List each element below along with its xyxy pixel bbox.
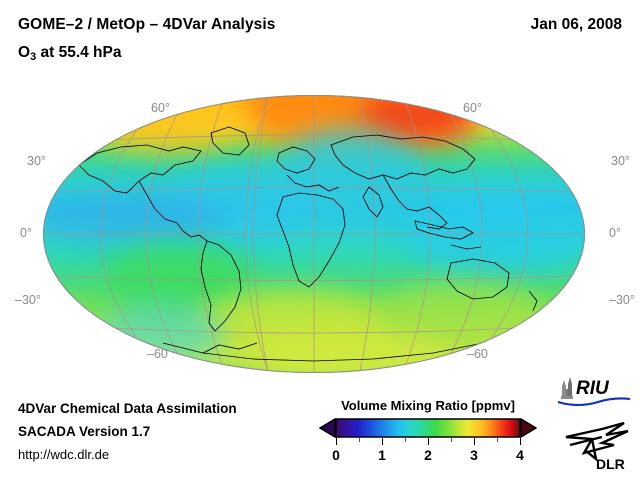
figure-canvas: GOME–2 / MetOp – 4DVar Analysis O3 at 55… xyxy=(0,0,640,480)
colorbar-tick-minor-2p5 xyxy=(451,438,452,442)
date-label: Jan 06, 2008 xyxy=(531,16,622,34)
colorbar-label-2: 2 xyxy=(424,447,432,463)
colorbar-tick-minor-1p5 xyxy=(405,438,406,442)
colorbar-tick-1 xyxy=(382,438,383,445)
colorbar-arrow-high xyxy=(521,419,536,437)
colorbar-gradient-wrap xyxy=(318,418,538,438)
cathedral-icon xyxy=(561,377,573,399)
colorbar-tick-0 xyxy=(336,438,337,445)
lat-label-left-30: 30° xyxy=(27,154,46,168)
species-suffix: at 55.4 hPa xyxy=(36,44,121,61)
colorbar-gradient xyxy=(318,418,538,438)
lat-label-right-60: 60° xyxy=(463,101,482,115)
footer-line-url[interactable]: http://wdc.dlr.de xyxy=(18,447,237,462)
colorbar-title: Volume Mixing Ratio [ppmv] xyxy=(318,398,538,413)
colorbar-label-3: 3 xyxy=(470,447,478,463)
colorbar-label-0: 0 xyxy=(332,447,340,463)
dlr-arrow-icon xyxy=(566,423,628,459)
colorbar-arrow-low xyxy=(320,419,335,437)
colorbar-label-1: 1 xyxy=(378,447,386,463)
lat-label-left-m30: –30° xyxy=(15,293,41,307)
world-map: 60° 30° 0° –30° –60 60° 30° 0° –30° –60 xyxy=(43,95,585,373)
globe-projection-area xyxy=(43,95,585,373)
ozone-blob-pacific-tropics xyxy=(403,191,585,277)
lat-label-right-30: 30° xyxy=(611,154,630,168)
species-subtitle: O3 at 55.4 hPa xyxy=(18,44,121,62)
colorbar-tick-minor-0p5 xyxy=(359,438,360,442)
colorbar-tick-2 xyxy=(428,438,429,445)
colorbar-tick-labels: 0 1 2 3 4 xyxy=(336,447,520,465)
riu-logo: RIU xyxy=(556,374,632,408)
footer-line-version: SACADA Version 1.7 xyxy=(18,424,237,439)
colorbar-tick-minor-3p5 xyxy=(497,438,498,442)
dlr-logo: DLR xyxy=(562,415,632,471)
colorbar-ticks xyxy=(336,438,520,446)
ozone-blob-indian-green xyxy=(103,243,253,307)
footer-credits: 4DVar Chemical Data Assimilation SACADA … xyxy=(18,401,237,470)
species-prefix: O xyxy=(18,44,30,61)
footer-line-method: 4DVar Chemical Data Assimilation xyxy=(18,401,237,416)
lat-label-left-0: 0° xyxy=(20,226,32,240)
colorbar: Volume Mixing Ratio [ppmv] xyxy=(318,398,538,465)
colorbar-label-4: 4 xyxy=(516,447,524,463)
lat-label-left-60: 60° xyxy=(151,101,170,115)
riu-wordmark: RIU xyxy=(576,378,610,399)
lat-label-left-m60: –60 xyxy=(147,347,168,361)
riu-swoosh xyxy=(558,398,630,405)
lat-label-right-m60: –60 xyxy=(467,347,488,361)
colorbar-tick-3 xyxy=(474,438,475,445)
colorbar-tick-4 xyxy=(520,438,521,445)
page-title: GOME–2 / MetOp – 4DVar Analysis xyxy=(18,16,276,34)
lat-label-right-0: 0° xyxy=(609,226,621,240)
dlr-wordmark: DLR xyxy=(596,456,625,471)
lat-label-right-m30: –30° xyxy=(609,293,635,307)
species-subscript: 3 xyxy=(30,51,36,63)
